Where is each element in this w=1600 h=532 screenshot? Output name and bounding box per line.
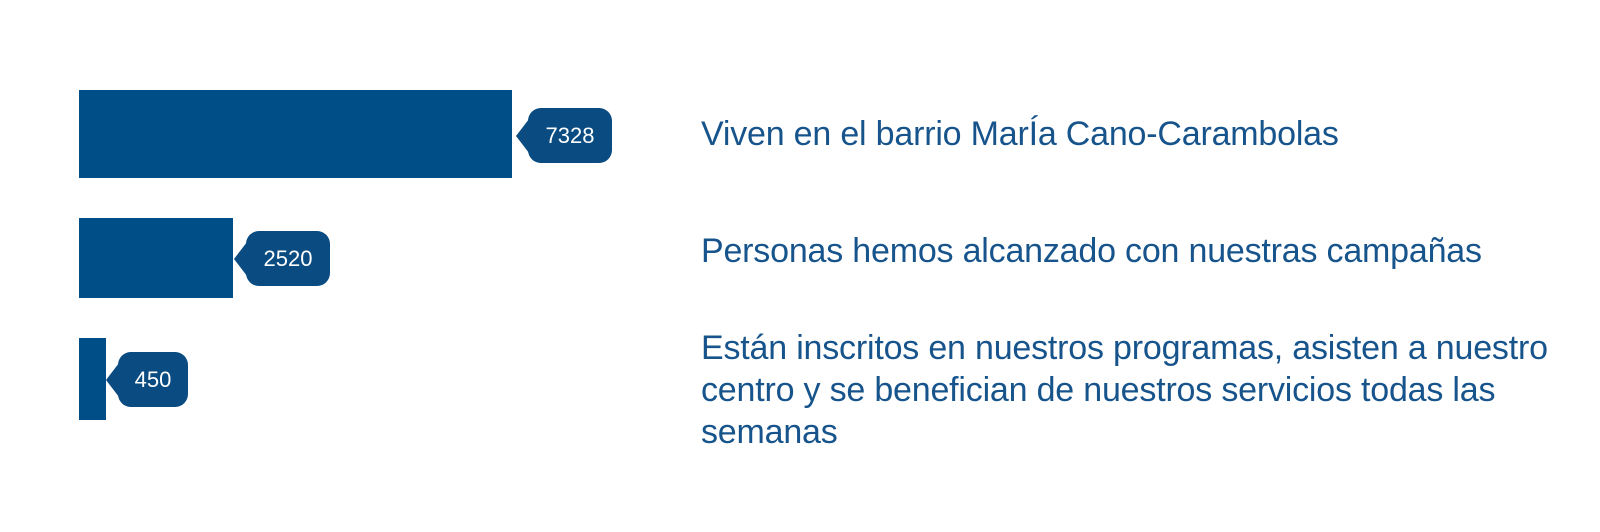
badge-value: 2520 [264,248,313,270]
bar [79,338,106,420]
stat-label: Están inscritos en nuestros programas, a… [701,327,1548,453]
value-badge: 450 [118,352,188,407]
stat-label: Personas hemos alcanzado con nuestras ca… [701,229,1482,273]
stat-label-line: Personas hemos alcanzado con nuestras ca… [701,229,1482,273]
badge-value: 450 [135,369,172,391]
stat-label-line: centro y se benefician de nuestros servi… [701,369,1548,411]
stat-label-line: Están inscritos en nuestros programas, a… [701,327,1548,369]
badge-value: 7328 [546,125,595,147]
infographic-chart: 7328 Viven en el barrio MarÍa Cano-Caram… [0,0,1600,532]
value-badge: 2520 [246,231,330,286]
bar [79,218,233,298]
stat-label-line: semanas [701,411,1548,453]
stat-row: 450 Están inscritos en nuestros programa… [0,0,1600,200]
